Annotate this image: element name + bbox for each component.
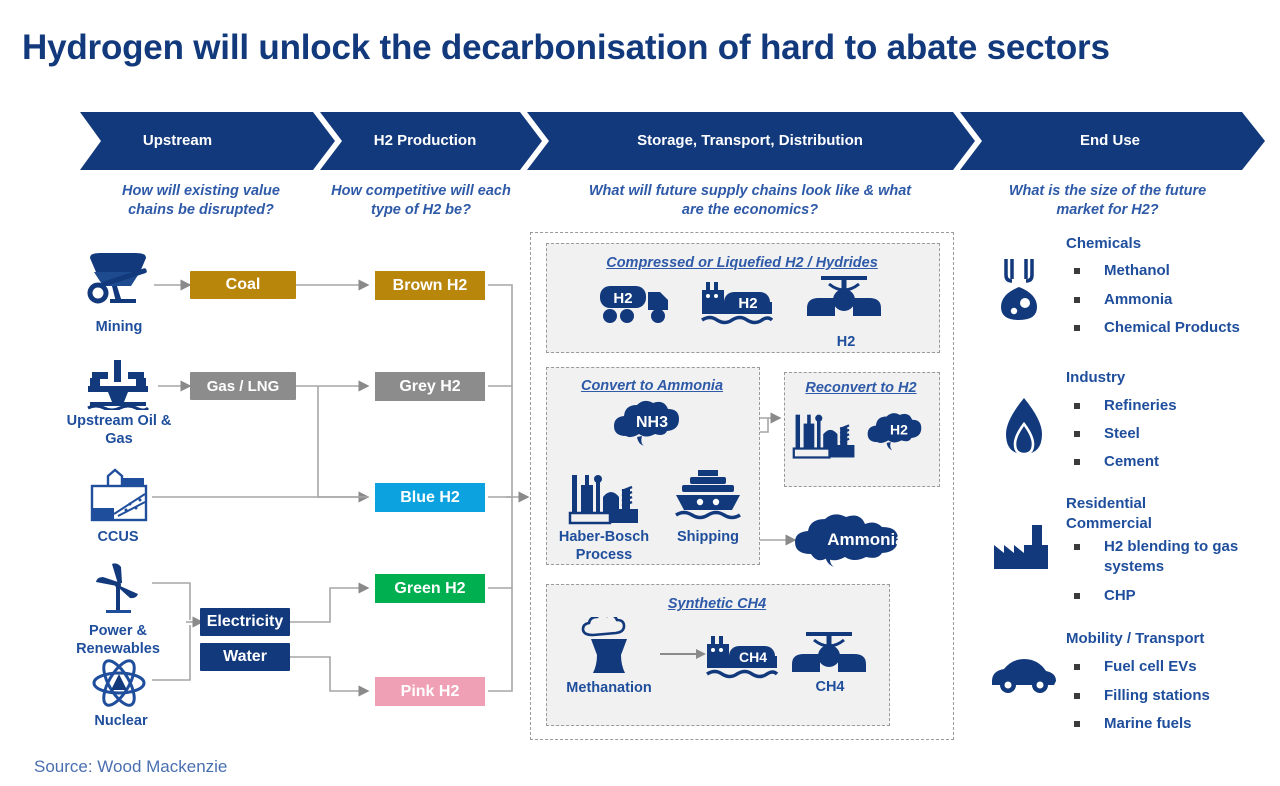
label-haber-bosch-line1: Haber-Bosch — [548, 528, 660, 546]
h2-box-green[interactable]: Green H2 — [375, 574, 485, 603]
flame-drop-industry-icon — [1000, 396, 1048, 467]
cargo-ship-icon: H2 — [700, 278, 788, 335]
label-oil-gas-line2: Gas — [38, 430, 200, 448]
label-mining: Mining — [60, 318, 178, 336]
svg-text:CH4: CH4 — [739, 649, 767, 665]
svg-text:NH3: NH3 — [636, 414, 668, 431]
chemical-plant-icon — [568, 465, 642, 530]
feedstock-box-electricity[interactable]: Electricity — [200, 608, 290, 636]
bullet-icon — [1074, 297, 1080, 303]
chevron-label-upstream: Upstream — [95, 112, 260, 170]
question-production-line1: How competitive will each — [306, 182, 536, 201]
end-use-heading-industry: Industry — [1066, 369, 1125, 386]
label-upstream-oil-gas: Upstream Oil & Gas — [38, 412, 200, 448]
bullet-icon — [1074, 431, 1080, 437]
car-icon — [988, 653, 1060, 700]
factory-icon — [992, 525, 1056, 576]
methanation-arrow-icon — [660, 645, 706, 663]
feedstock-box-coal[interactable]: Coal — [190, 271, 296, 299]
h2-box-blue[interactable]: Blue H2 — [375, 483, 485, 512]
end-use-heading-residential-text: Residential — [1066, 495, 1146, 512]
chevron-label-storage: Storage, Transport, Distribution — [540, 112, 960, 170]
cargo-ship-ch4-icon: CH4 — [705, 632, 793, 689]
atom-nuclear-icon — [92, 658, 146, 713]
h2-cloud-icon: H2 — [866, 412, 932, 459]
end-use-item-fuel-cell-evs: Fuel cell EVs — [1074, 657, 1280, 677]
nh3-cloud-icon: NH3 — [612, 400, 692, 455]
end-use-item-refineries: Refineries — [1074, 396, 1280, 416]
question-upstream-line1: How will existing value — [86, 182, 316, 201]
chevron-label-end-use: End Use — [985, 112, 1235, 170]
label-nuclear: Nuclear — [62, 712, 180, 730]
end-use-item-marine-fuels: Marine fuels — [1074, 714, 1280, 734]
bullet-icon — [1074, 544, 1080, 550]
svg-text:H2: H2 — [738, 295, 757, 312]
bullet-icon — [1074, 593, 1080, 599]
page-title: Hydrogen will unlock the decarbonisation… — [22, 28, 1262, 68]
label-power-renewables: Power & Renewables — [48, 622, 188, 658]
end-use-item-h2-blending: H2 blending to gas systems — [1074, 537, 1280, 577]
bullet-icon — [1074, 664, 1080, 670]
h2-box-brown[interactable]: Brown H2 — [375, 271, 485, 300]
pipeline-valve-ch4-icon — [790, 624, 868, 685]
label-power-line1: Power & — [48, 622, 188, 640]
end-use-item-chp: CHP — [1074, 586, 1280, 606]
h2-box-grey[interactable]: Grey H2 — [375, 372, 485, 401]
h2-box-pink[interactable]: Pink H2 — [375, 677, 485, 706]
end-use-heading-chemicals: Chemicals — [1066, 235, 1141, 252]
end-use-item-chemical-products: Chemical Products — [1074, 318, 1280, 338]
pipeline-h2-label: H2 — [810, 333, 882, 351]
source-note: Source: Wood Mackenzie — [34, 757, 227, 777]
question-production: How competitive will each type of H2 be? — [306, 182, 536, 220]
question-storage-line2: are the economics? — [540, 201, 960, 220]
end-use-heading-commercial: Commercial — [1066, 515, 1152, 532]
label-shipping: Shipping — [662, 528, 754, 546]
label-ccus: CCUS — [62, 528, 174, 546]
tanker-truck-icon: H2 — [598, 278, 680, 331]
end-use-item-ammonia: Ammonia — [1074, 290, 1280, 310]
feedstock-box-water[interactable]: Water — [200, 643, 290, 671]
bullet-icon — [1074, 268, 1080, 274]
question-end-use-line1: What is the size of the future — [975, 182, 1240, 201]
panel-title-convert-ammonia: Convert to Ammonia — [546, 378, 758, 394]
label-mining-line1: Mining — [60, 318, 178, 336]
label-haber-bosch-line2: Process — [548, 546, 660, 564]
flask-chemicals-icon — [992, 255, 1054, 326]
chevron-label-h2-production: H2 Production — [330, 112, 520, 170]
svg-text:H2: H2 — [890, 422, 908, 438]
pipeline-valve-icon — [805, 268, 883, 329]
cooling-tower-icon — [577, 617, 641, 684]
question-upstream: How will existing value chains be disrup… — [86, 182, 316, 220]
end-use-item-steel: Steel — [1074, 424, 1280, 444]
end-use-heading-residential: Residential / — [1066, 495, 1280, 512]
question-storage-line1: What will future supply chains look like… — [540, 182, 960, 201]
oil-rig-icon — [84, 358, 152, 415]
svg-text:H2: H2 — [613, 290, 632, 307]
bullet-icon — [1074, 459, 1080, 465]
end-use-heading-mobility: Mobility / Transport — [1066, 630, 1204, 647]
question-storage: What will future supply chains look like… — [540, 182, 960, 220]
question-end-use-line2: market for H2? — [975, 201, 1240, 220]
question-production-line2: type of H2 be? — [306, 201, 536, 220]
chemical-plant-icon-reconvert — [792, 405, 858, 465]
infographic-root: Hydrogen will unlock the decarbonisation… — [0, 0, 1280, 786]
svg-text:Ammonia: Ammonia — [827, 530, 905, 549]
ccus-plant-icon — [88, 468, 150, 528]
end-use-item-cement: Cement — [1074, 452, 1280, 472]
bullet-icon — [1074, 721, 1080, 727]
pipeline-ch4-label: CH4 — [794, 678, 866, 696]
bullet-icon — [1074, 325, 1080, 331]
label-oil-gas-line1: Upstream Oil & — [38, 412, 200, 430]
label-power-line2: Renewables — [48, 640, 188, 658]
wind-turbine-icon — [90, 562, 148, 623]
ship-icon — [672, 468, 744, 529]
panel-title-synthetic-ch4: Synthetic CH4 — [546, 596, 888, 612]
question-end-use: What is the size of the future market fo… — [975, 182, 1240, 220]
panel-title-reconvert: Reconvert to H2 — [784, 380, 938, 396]
ammonia-cloud-icon: Ammonia — [793, 512, 939, 573]
end-use-item-methanol: Methanol — [1074, 261, 1280, 281]
label-ccus-line1: CCUS — [62, 528, 174, 546]
question-upstream-line2: chains be disrupted? — [86, 201, 316, 220]
bullet-icon — [1074, 693, 1080, 699]
end-use-item-filling-stations: Filling stations — [1074, 686, 1280, 706]
label-nuclear-line1: Nuclear — [62, 712, 180, 730]
label-methanation: Methanation — [550, 679, 668, 697]
label-haber-bosch: Haber-Bosch Process — [548, 528, 660, 564]
wheelbarrow-mining-icon — [82, 252, 154, 315]
bullet-icon — [1074, 403, 1080, 409]
feedstock-box-gas-lng[interactable]: Gas / LNG — [190, 372, 296, 400]
